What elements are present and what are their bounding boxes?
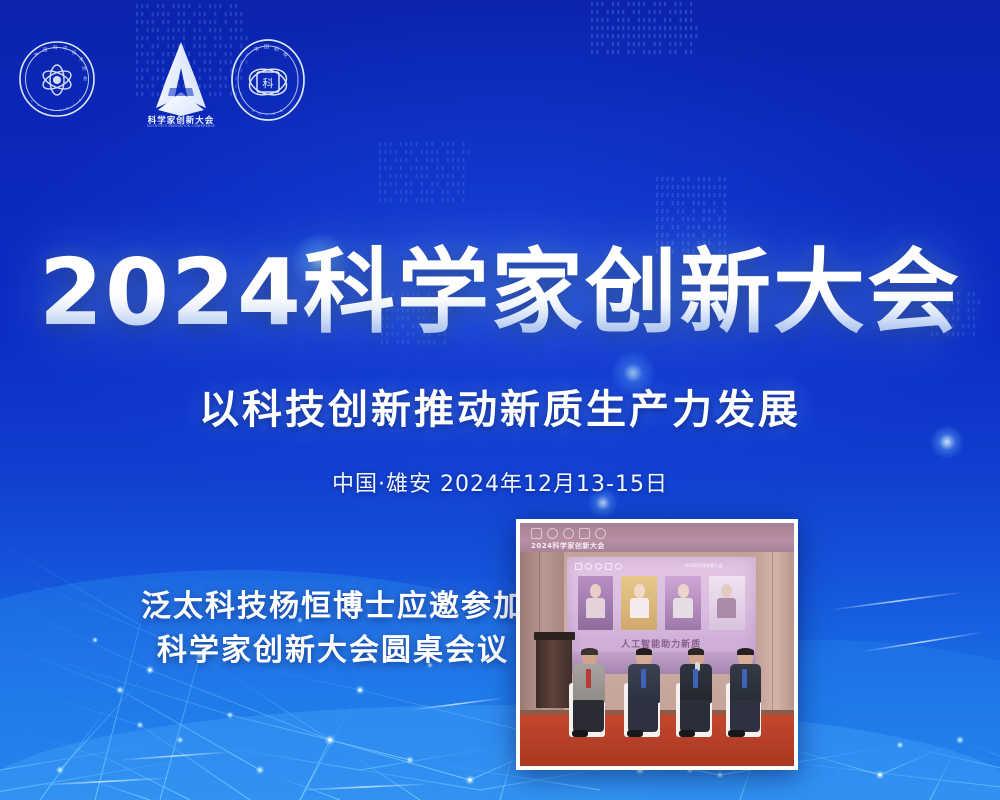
photo-panelist-legs xyxy=(573,700,603,732)
svg-text:中: 中 xyxy=(254,46,259,53)
photo-panelist-lanyard xyxy=(586,669,591,688)
svg-text:科: 科 xyxy=(274,46,279,53)
photo-panelist-hair xyxy=(688,648,704,655)
background-building-texture-mid: ▮▮▮ ▮▮▮▮ ▮▮ ▮▮▮ ▮ ▮▮▮▮ ▮▮ ▮▮▮▮ ▮▮ ▮▮ ▮▮ … xyxy=(378,140,558,250)
photo-panelist-shoe xyxy=(679,730,695,737)
photo-top-banner-icons xyxy=(531,528,635,540)
svg-text:S: S xyxy=(252,109,254,113)
main-title: 2024科学家创新大会 xyxy=(0,244,1000,342)
photo-panelist-hair xyxy=(636,648,652,655)
photo-screen-portrait-body xyxy=(586,598,605,617)
photo-screen-portrait-head xyxy=(634,584,645,599)
photo-screen-icon-row xyxy=(575,563,635,573)
svg-text:科: 科 xyxy=(53,44,58,51)
dateline: 中国·雄安 2024年12月13-15日 xyxy=(0,470,1000,500)
photo-screen-portrait-body xyxy=(717,598,736,617)
svg-text:S: S xyxy=(44,106,46,110)
photo-screen-portrait-head xyxy=(678,584,689,599)
photo-panelist-lanyard xyxy=(742,669,747,688)
photo-panelist-legs xyxy=(628,700,658,732)
photo-panelist-shoe xyxy=(728,730,744,737)
photo-panelist-legs xyxy=(730,700,760,732)
svg-text:I: I xyxy=(73,102,74,106)
svg-text:I: I xyxy=(266,113,267,117)
svg-text:术: 术 xyxy=(79,56,84,63)
china-association-for-science-and-technology-seal: 中国科 学技术 协会 CAS TCH IN xyxy=(18,40,96,118)
organizer-logo-group: 中国科 学技术 协会 CAS TCH IN xyxy=(14,32,314,128)
photo-panelist-hair xyxy=(581,648,597,655)
svg-text:学: 学 xyxy=(283,52,288,59)
event-photo-frame: 2024科学家创新大会 2024科学家创新大会 xyxy=(516,519,798,770)
photo-panelist-shoe xyxy=(627,730,643,737)
svg-text:E: E xyxy=(273,112,275,116)
svg-text:科: 科 xyxy=(263,76,274,90)
event-photo: 2024科学家创新大会 2024科学家创新大会 xyxy=(520,523,794,766)
svg-text:N: N xyxy=(79,98,81,102)
photo-podium xyxy=(536,635,572,708)
photo-panelist-legs xyxy=(680,700,710,732)
svg-text:学: 学 xyxy=(63,45,68,52)
event-caption: 泛太科技杨恒博士应邀参加 科学家创新大会圆桌会议 xyxy=(133,585,533,673)
photo-panelist-lanyard xyxy=(693,669,698,688)
svg-text:C: C xyxy=(31,99,33,103)
event-caption-line-2: 科学家创新大会圆桌会议 xyxy=(133,629,533,673)
photo-podium-top xyxy=(534,632,575,639)
photo-screen-portrait-body xyxy=(673,598,692,617)
background-building-texture-upper-right: ▮▮▮ ▮▮ ▮▮▮▮ ▮▮▮ ▮▮ ▮ ▮▮ ▮▮▮▮ ▮▮ ▮▮▮ ▮▮▮▮… xyxy=(590,0,800,110)
conference-poster: ▮▮▮ ▮▮ ▮▮▮▮ ▮ ▮▮▮ ▮▮ ▮▮ ▮▮▮▮ ▮▮ ▮▮▮ ▮ ▮▮… xyxy=(0,0,1000,800)
photo-panelist-lanyard xyxy=(641,669,646,688)
photo-screen-portrait-body xyxy=(630,598,649,617)
svg-text:国: 国 xyxy=(264,44,269,50)
photo-panelist-shoe xyxy=(572,730,588,737)
photo-screen-portrait-head xyxy=(590,584,601,599)
svg-text:T: T xyxy=(50,108,53,112)
photo-top-banner-title: 2024科学家创新大会 xyxy=(531,541,605,551)
svg-text:中: 中 xyxy=(34,51,38,58)
photo-screen-header-text: 2024科学家创新大会 xyxy=(684,563,722,569)
svg-text:技: 技 xyxy=(72,49,77,56)
institute-oval-seal: 科 中国科学 SCI EN xyxy=(230,38,306,122)
triangle-mark-subwordmark: SCIENTISTS INNOVATION CONFERENCE xyxy=(136,124,226,128)
conference-triangle-mark: 科学家创新大会 SCIENTISTS INNOVATION CONFERENCE xyxy=(136,34,226,128)
svg-text:C: C xyxy=(59,108,61,112)
svg-text:H: H xyxy=(66,106,68,110)
photo-panelist-hair xyxy=(737,648,753,655)
event-caption-line-1: 泛太科技杨恒博士应邀参加 xyxy=(133,585,533,629)
subtitle: 以科技创新推动新质生产力发展 xyxy=(0,385,1000,435)
svg-text:C: C xyxy=(259,112,262,116)
svg-text:国: 国 xyxy=(43,47,48,53)
svg-text:会: 会 xyxy=(83,75,88,82)
svg-text:协: 协 xyxy=(82,65,87,72)
